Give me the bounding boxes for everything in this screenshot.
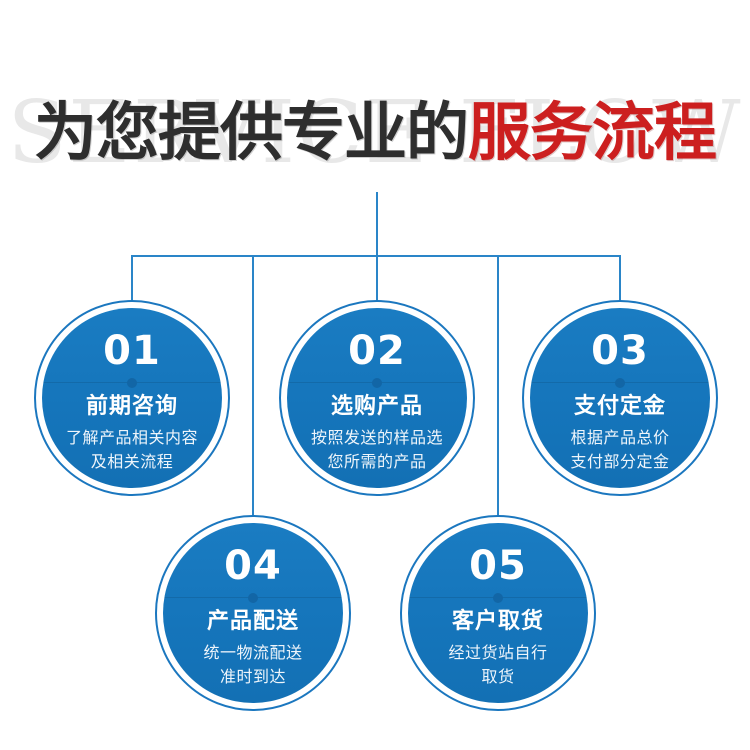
step-node-2[interactable]: 02 选购产品 按照发送的样品选 您所需的产品	[279, 300, 475, 496]
step-title: 产品配送	[163, 607, 343, 637]
step-divider-dot-icon	[372, 378, 382, 388]
step-number: 02	[287, 328, 467, 374]
step-description-line-2: 支付部分定金	[530, 450, 710, 474]
step-node-4[interactable]: 04 产品配送 统一物流配送 准时到达	[155, 515, 351, 711]
step-description-line-1: 了解产品相关内容	[42, 426, 222, 450]
step-description-line-1: 经过货站自行	[408, 641, 588, 665]
step-description-line-2: 准时到达	[163, 665, 343, 689]
step-number: 01	[42, 328, 222, 374]
step-description-line-2: 取货	[408, 665, 588, 689]
step-divider-dot-icon	[248, 593, 258, 603]
page-title-dark-part: 为您提供专业的	[34, 96, 468, 169]
connector-drop-step-5	[497, 255, 499, 523]
header: SERVICE FLOW 为您提供专业的服务流程	[0, 78, 750, 188]
step-disc: 05 客户取货 经过货站自行 取货	[408, 523, 588, 703]
step-number: 05	[408, 543, 588, 589]
step-description: 根据产品总价 支付部分定金	[530, 426, 710, 474]
step-node-3[interactable]: 03 支付定金 根据产品总价 支付部分定金	[522, 300, 718, 496]
step-description-line-1: 根据产品总价	[530, 426, 710, 450]
step-disc: 03 支付定金 根据产品总价 支付部分定金	[530, 308, 710, 488]
step-number: 03	[530, 328, 710, 374]
step-description-line-1: 统一物流配送	[163, 641, 343, 665]
step-divider-dot-icon	[493, 593, 503, 603]
page-title-red-part: 服务流程	[468, 96, 716, 169]
step-disc: 02 选购产品 按照发送的样品选 您所需的产品	[287, 308, 467, 488]
service-flow-infographic: SERVICE FLOW 为您提供专业的服务流程 01 前期咨询 了解产品相关内…	[0, 0, 750, 750]
step-divider-dot-icon	[127, 378, 137, 388]
step-divider-dot-icon	[615, 378, 625, 388]
step-title: 选购产品	[287, 392, 467, 422]
step-description: 统一物流配送 准时到达	[163, 641, 343, 689]
step-title: 客户取货	[408, 607, 588, 637]
page-title: 为您提供专业的服务流程	[0, 92, 750, 174]
connector-drop-step-4	[252, 255, 254, 523]
step-description: 经过货站自行 取货	[408, 641, 588, 689]
step-description: 按照发送的样品选 您所需的产品	[287, 426, 467, 474]
step-disc: 04 产品配送 统一物流配送 准时到达	[163, 523, 343, 703]
step-description-line-2: 您所需的产品	[287, 450, 467, 474]
step-node-1[interactable]: 01 前期咨询 了解产品相关内容 及相关流程	[34, 300, 230, 496]
connector-stem-top	[376, 192, 378, 256]
step-description-line-2: 及相关流程	[42, 450, 222, 474]
step-title: 前期咨询	[42, 392, 222, 422]
step-disc: 01 前期咨询 了解产品相关内容 及相关流程	[42, 308, 222, 488]
step-title: 支付定金	[530, 392, 710, 422]
step-node-5[interactable]: 05 客户取货 经过货站自行 取货	[400, 515, 596, 711]
step-number: 04	[163, 543, 343, 589]
step-description-line-1: 按照发送的样品选	[287, 426, 467, 450]
step-description: 了解产品相关内容 及相关流程	[42, 426, 222, 474]
